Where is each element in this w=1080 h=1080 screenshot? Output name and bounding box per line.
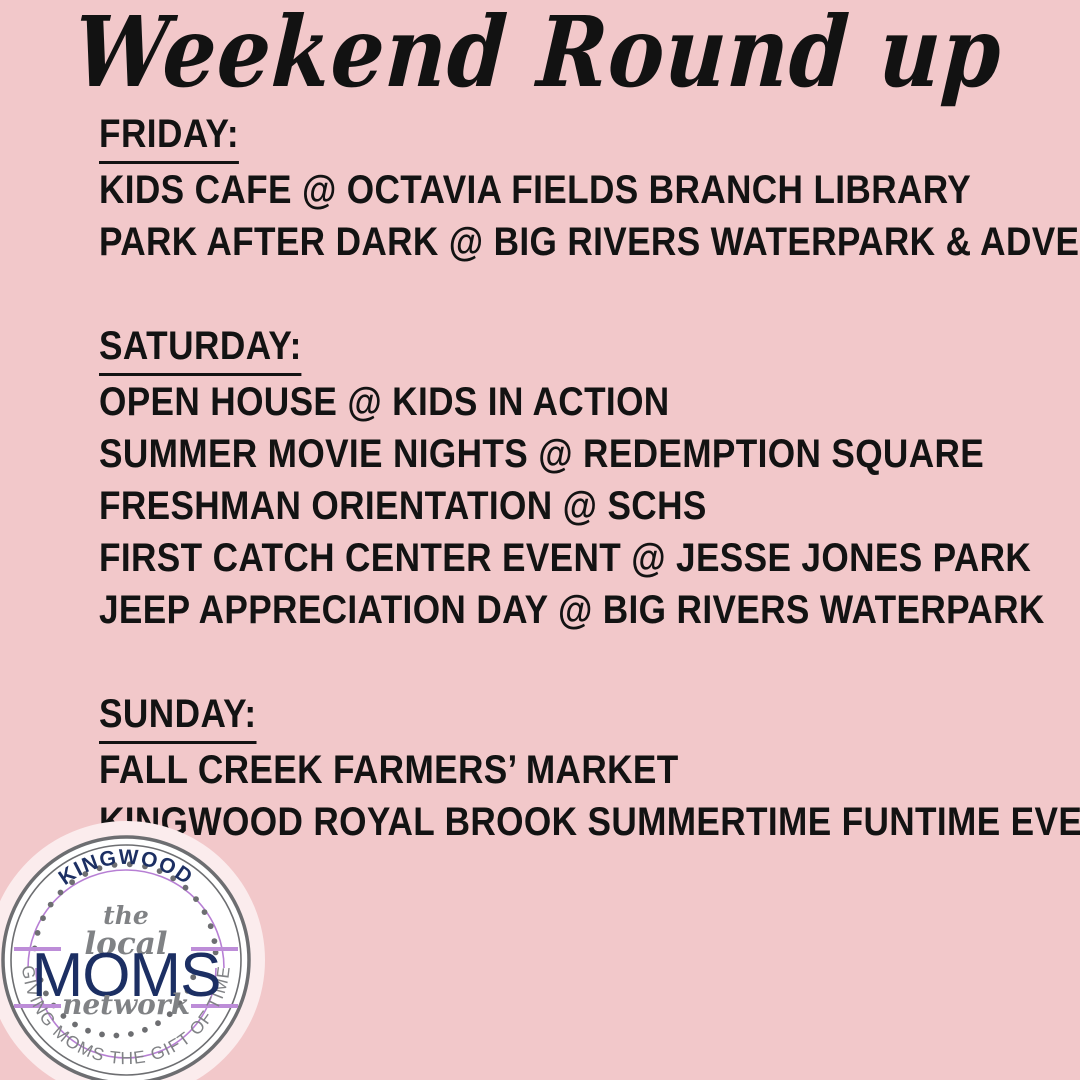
- event-item: SUMMER MOVIE NIGHTS @ REDEMPTION SQUARE: [99, 428, 944, 480]
- day-heading-friday: FRIDAY:: [99, 108, 239, 164]
- event-item: PARK AFTER DARK @ BIG RIVERS WATERPARK &…: [99, 216, 944, 268]
- day-section-saturday: SATURDAY: OPEN HOUSE @ KIDS IN ACTION SU…: [99, 320, 1059, 636]
- badge-script-network: network: [62, 988, 190, 1021]
- event-item: FRESHMAN ORIENTATION @ SCHS: [99, 480, 944, 532]
- page-title: Weekend Round up: [0, 0, 1080, 106]
- day-heading-saturday: SATURDAY:: [99, 320, 302, 376]
- weekend-roundup-poster: Weekend Round up FRIDAY: KIDS CAFE @ OCT…: [0, 0, 1080, 1080]
- weekend-schedule: FRIDAY: KIDS CAFE @ OCTAVIA FIELDS BRANC…: [99, 108, 1059, 848]
- day-heading-sunday: SUNDAY:: [99, 688, 257, 744]
- event-item: FALL CREEK FARMERS’ MARKET: [99, 744, 944, 796]
- logo-badge: KINGWOOD GIVING MOMS THE GIFT OF TIME th…: [0, 818, 268, 1080]
- event-item: KIDS CAFE @ OCTAVIA FIELDS BRANCH LIBRAR…: [99, 164, 944, 216]
- day-section-friday: FRIDAY: KIDS CAFE @ OCTAVIA FIELDS BRANC…: [99, 108, 1059, 268]
- event-item: OPEN HOUSE @ KIDS IN ACTION: [99, 376, 944, 428]
- event-item: FIRST CATCH CENTER EVENT @ JESSE JONES P…: [99, 532, 944, 584]
- event-item: JEEP APPRECIATION DAY @ BIG RIVERS WATER…: [99, 584, 944, 636]
